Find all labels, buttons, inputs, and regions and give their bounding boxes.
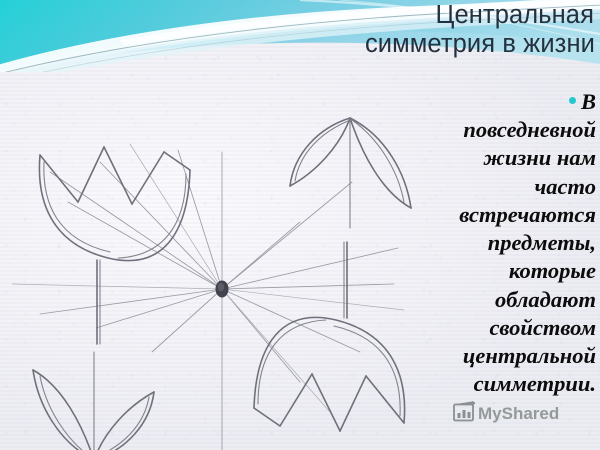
body-line-11: симметрии. [474,371,596,396]
body-line-2: повседневной [463,117,596,142]
tulip-top-left [39,147,190,344]
myshared-watermark: MyShared [452,400,580,430]
body-paragraph: В повседневной жизни нам часто встречают… [410,88,596,399]
body-line-9: свойством [489,315,596,340]
center-point [216,281,229,298]
leaves-bottom-left [33,352,154,450]
body-line-10: центральной [463,343,596,368]
leaves-top-right [290,118,411,228]
watermark-text: MyShared [478,404,559,423]
pencil-illustration: .pl { fill:none; stroke:#70707c; stroke-… [0,52,430,450]
body-line-5: встречаются [459,202,596,227]
symmetry-rays [12,144,404,450]
bullet-dot-icon [569,97,576,104]
slide-title: Центральная симметрия в жизни [300,2,596,57]
myshared-presentation-icon [454,402,475,421]
title-line-1: Центральная [300,2,596,28]
tulip-bottom-right [254,242,405,431]
title-line-2: симметрия в жизни [300,31,596,57]
body-line-4: часто [534,174,596,199]
body-line-6: предметы, [488,230,596,255]
body-line-7: которые [509,258,596,283]
body-line-3: жизни нам [484,145,597,170]
presentation-slide: Центральная симметрия в жизни .pl { fill… [0,0,600,450]
body-line-8: обладают [495,287,596,312]
body-line-1: В [581,89,596,114]
